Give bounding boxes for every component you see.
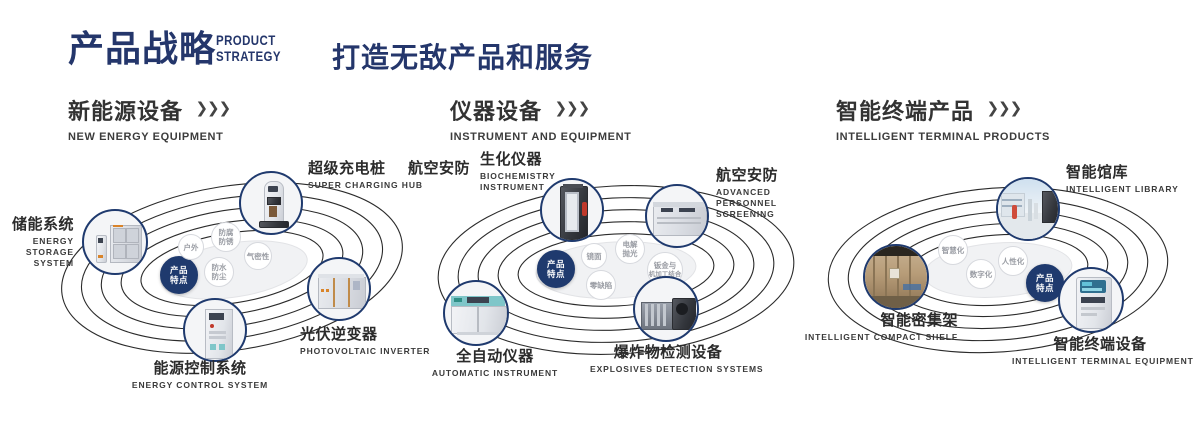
- feature-tag-intelligent: 智慧化: [938, 235, 968, 265]
- label-energy-control-system: 能源控制系统 ENERGY CONTROL SYSTEM: [85, 360, 315, 391]
- cluster-intelligent-terminal: 智慧化 数字化 人性化 产品 特点 智能馆库: [818, 152, 1198, 392]
- node-advanced-personnel-screening[interactable]: [645, 184, 709, 248]
- label-advanced-personnel-screening: 航空安防 ADVANCED PERSONNEL SCREENING: [716, 167, 808, 220]
- header: 产品战略 PRODUCT STRATEGY 打造无敌产品和服务: [0, 0, 1200, 88]
- core-tag-line1: 产品: [547, 259, 565, 269]
- section-title-cn: 新能源设备: [68, 94, 183, 126]
- node-intelligent-library[interactable]: [996, 177, 1060, 241]
- advanced-personnel-screening-icon: [647, 186, 707, 246]
- core-tag-product-features: 产品 特点: [160, 256, 198, 294]
- core-tag-line2: 特点: [170, 275, 188, 285]
- section-heading-intelligent-terminal: 智能终端产品 ❯❯❯ INTELLIGENT TERMINAL PRODUCTS: [836, 94, 1050, 143]
- label-aviation-security: 航空安防: [408, 160, 470, 178]
- core-tag-line1: 产品: [170, 265, 188, 275]
- feature-tag-anti-corrosion: 防腐 防锈: [211, 222, 241, 252]
- label-explosives-detection-system: 爆炸物检测设备 EXPLOSIVES DETECTION SYSTEMS: [590, 344, 746, 375]
- node-intelligent-terminal-equipment[interactable]: [1058, 267, 1124, 333]
- label-automatic-instrument: 全自动仪器 AUTOMATIC INSTRUMENT: [410, 348, 580, 379]
- node-automatic-instrument[interactable]: [443, 280, 509, 346]
- label-super-charging-hub: 超级充电桩 SUPER CHARGING HUB: [308, 160, 423, 191]
- super-charging-hub-icon: [241, 173, 301, 233]
- chevrons-icon: ❯❯❯: [195, 99, 230, 117]
- page-title-english-line1: PRODUCT: [216, 32, 281, 48]
- energy-control-system-icon: [185, 300, 245, 360]
- section-heading-new-energy: 新能源设备 ❯❯❯ NEW ENERGY EQUIPMENT: [68, 94, 230, 143]
- chevrons-icon: ❯❯❯: [986, 99, 1021, 117]
- core-tag-line2: 特点: [1036, 283, 1054, 293]
- page-title-english-line2: STRATEGY: [216, 48, 281, 64]
- section-heading-instrument: 仪器设备 ❯❯❯ INSTRUMENT AND EQUIPMENT: [450, 94, 631, 143]
- intelligent-compact-shelf-icon: [865, 246, 927, 308]
- label-biochemistry-instrument: 生化仪器 BIOCHEMISTRY INSTRUMENT: [480, 151, 546, 193]
- biochemistry-instrument-icon: [542, 180, 602, 240]
- node-intelligent-compact-shelf[interactable]: [863, 244, 929, 310]
- energy-storage-system-icon: [84, 211, 146, 273]
- section-title-en: INTELLIGENT TERMINAL PRODUCTS: [836, 131, 1050, 143]
- feature-tag-electrolytic-polishing: 电解 抛光: [615, 234, 645, 264]
- chevrons-icon: ❯❯❯: [554, 99, 589, 117]
- feature-tag-mirror-finish: 镜面: [581, 243, 607, 269]
- label-energy-storage-system: 储能系统 ENERGY STORAGE SYSTEM: [0, 216, 74, 269]
- core-tag-line1: 产品: [1036, 273, 1054, 283]
- feature-tag-outdoor: 户外: [178, 234, 204, 260]
- product-strategy-infographic: 产品战略 PRODUCT STRATEGY 打造无敌产品和服务 新能源设备 ❯❯…: [0, 0, 1200, 422]
- node-energy-storage-system[interactable]: [82, 209, 148, 275]
- section-title-en: INSTRUMENT AND EQUIPMENT: [450, 131, 631, 143]
- photovoltaic-inverter-icon: [309, 259, 369, 319]
- automatic-instrument-icon: [445, 282, 507, 344]
- label-intelligent-compact-shelf: 智能密集架 INTELLIGENT COMPACT SHELF: [778, 312, 958, 343]
- intelligent-library-icon: [998, 179, 1058, 239]
- feature-tag-zero-defect: 零缺陷: [586, 270, 616, 300]
- section-title-cn: 仪器设备: [450, 94, 542, 126]
- label-intelligent-library: 智能馆库 INTELLIGENT LIBRARY: [1066, 164, 1179, 195]
- feature-tag-waterproof: 防水 防尘: [204, 257, 234, 287]
- intelligent-terminal-equipment-icon: [1060, 269, 1122, 331]
- node-explosives-detection-system[interactable]: [633, 276, 699, 342]
- feature-tag-digital: 数字化: [966, 259, 996, 289]
- page-title: 产品战略: [68, 28, 216, 70]
- core-tag-product-features: 产品 特点: [537, 250, 575, 288]
- cluster-instrument: 产品 特点 镜面 电解 抛光 钣金与 机加工结合 零缺陷: [420, 152, 810, 392]
- cluster-new-energy: 产品 特点 户外 防腐 防锈 防水 防尘 气密性: [50, 150, 420, 390]
- core-tag-line2: 特点: [547, 269, 565, 279]
- section-title-cn: 智能终端产品: [836, 94, 974, 126]
- feature-tag-humanized: 人性化: [998, 246, 1028, 276]
- headline: 打造无敌产品和服务: [332, 36, 593, 76]
- feature-tag-airtightness: 气密性: [244, 242, 272, 270]
- node-biochemistry-instrument[interactable]: [540, 178, 604, 242]
- node-photovoltaic-inverter[interactable]: [307, 257, 371, 321]
- node-energy-control-system[interactable]: [183, 298, 247, 362]
- section-title-en: NEW ENERGY EQUIPMENT: [68, 131, 230, 143]
- label-intelligent-terminal-equipment: 智能终端设备 INTELLIGENT TERMINAL EQUIPMENT: [1012, 336, 1188, 367]
- node-super-charging-hub[interactable]: [239, 171, 303, 235]
- explosives-detection-system-icon: [635, 278, 697, 340]
- page-title-english: PRODUCT STRATEGY: [216, 32, 281, 64]
